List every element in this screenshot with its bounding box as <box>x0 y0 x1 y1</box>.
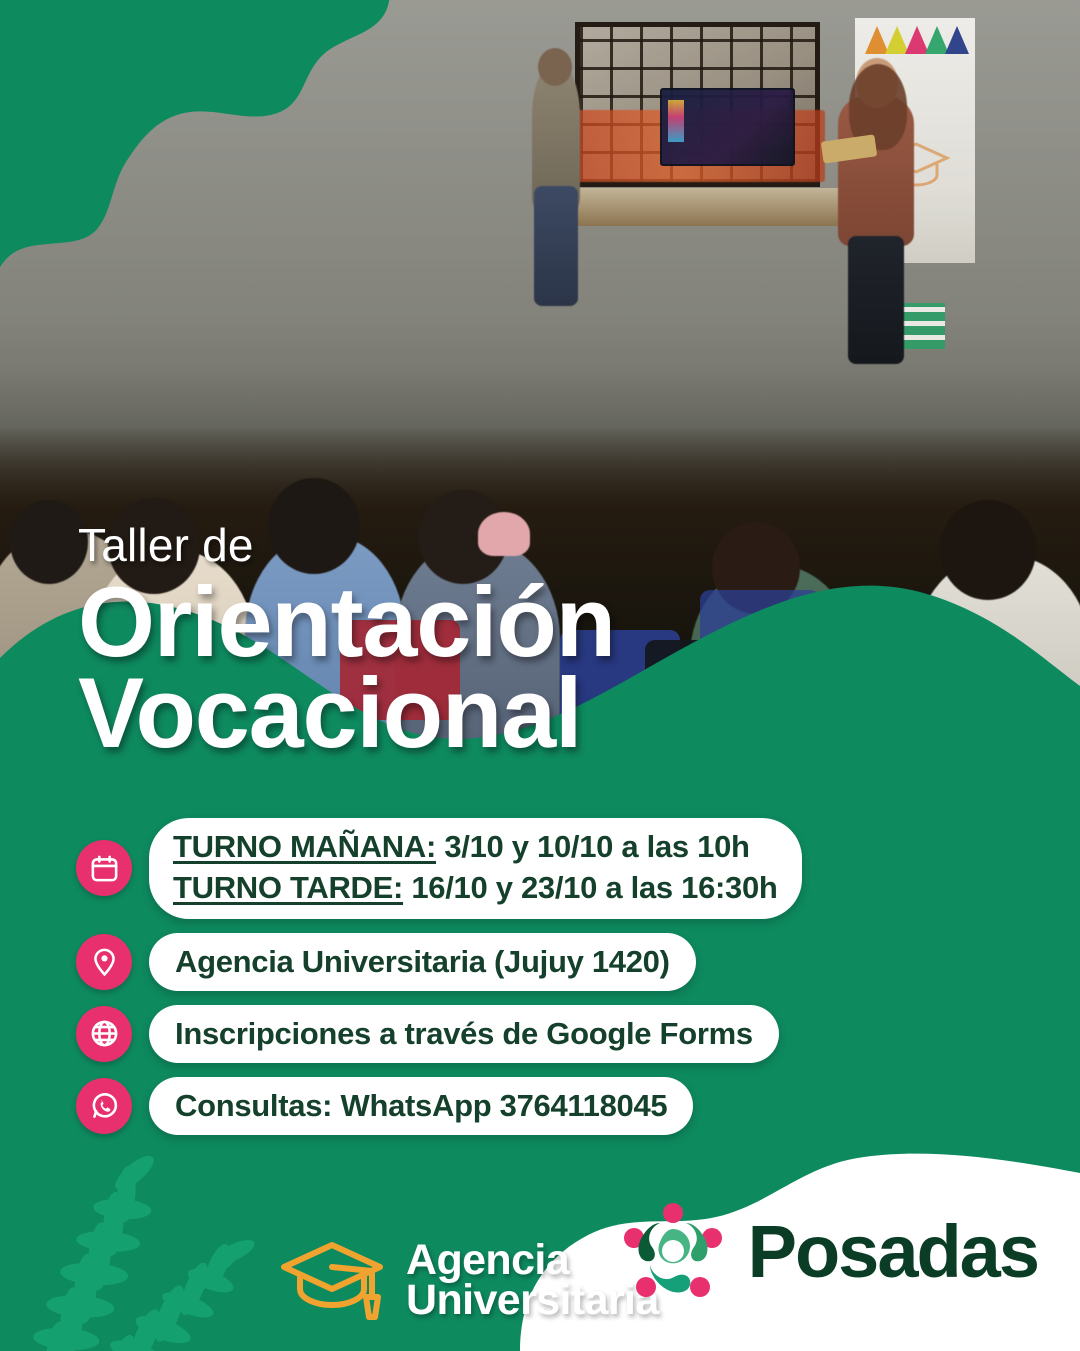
poster-root: nciaitaria sviernes0 hl <box>0 0 1080 1351</box>
fern-leaf-decoration-2 <box>36 1220 316 1351</box>
location-pin-icon <box>76 934 132 990</box>
location-pill: Agencia Universitaria (Jujuy 1420) <box>149 933 696 991</box>
calendar-icon <box>76 840 132 896</box>
info-row-schedule: TURNO MAÑANA: 3/10 y 10/10 a las 10h TUR… <box>76 818 802 919</box>
photo-legs-1 <box>534 186 578 306</box>
photo-head-1 <box>538 48 572 86</box>
info-row-location: Agencia Universitaria (Jujuy 1420) <box>76 933 802 991</box>
schedule-afternoon-value: 16/10 y 23/10 a las 16:30h <box>403 870 778 905</box>
schedule-morning-value: 3/10 y 10/10 a las 10h <box>436 829 750 864</box>
schedule-morning-label: TURNO MAÑANA: <box>173 829 436 864</box>
photo-screen <box>660 88 795 166</box>
contact-text: Consultas: WhatsApp 3764118045 <box>175 1088 667 1124</box>
schedule-line-afternoon: TURNO TARDE: 16/10 y 23/10 a las 16:30h <box>173 868 778 909</box>
agencia-universitaria-logo: Agencia Universitaria <box>280 1237 659 1323</box>
green-blob-top-left <box>0 0 410 290</box>
kicker-text: Taller de <box>78 522 615 568</box>
schedule-pill: TURNO MAÑANA: 3/10 y 10/10 a las 10h TUR… <box>149 818 802 919</box>
schedule-line-morning: TURNO MAÑANA: 3/10 y 10/10 a las 10h <box>173 827 778 868</box>
posadas-logo: Posadas <box>620 1199 1038 1305</box>
headline-block: Taller de Orientación Vocacional <box>78 522 615 760</box>
contact-pill: Consultas: WhatsApp 3764118045 <box>149 1077 693 1135</box>
schedule-afternoon-label: TURNO TARDE: <box>173 870 403 905</box>
graduation-cap-icon <box>280 1237 390 1323</box>
info-list: TURNO MAÑANA: 3/10 y 10/10 a las 10h TUR… <box>76 818 802 1135</box>
info-row-registration: Inscripciones a través de Google Forms <box>76 1005 802 1063</box>
rollup-triangles-icon <box>859 20 979 60</box>
registration-text: Inscripciones a través de Google Forms <box>175 1016 753 1052</box>
whatsapp-icon <box>76 1078 132 1134</box>
photo-legs-2 <box>848 236 904 364</box>
location-text: Agencia Universitaria (Jujuy 1420) <box>175 944 670 980</box>
title-line-2: Vocacional <box>78 665 615 760</box>
title-line-1: Orientación <box>78 574 615 669</box>
posadas-pinwheel-icon <box>620 1199 726 1305</box>
globe-icon <box>76 1006 132 1062</box>
info-row-contact: Consultas: WhatsApp 3764118045 <box>76 1077 802 1135</box>
posadas-label: Posadas <box>748 1215 1038 1289</box>
registration-pill: Inscripciones a través de Google Forms <box>149 1005 779 1063</box>
